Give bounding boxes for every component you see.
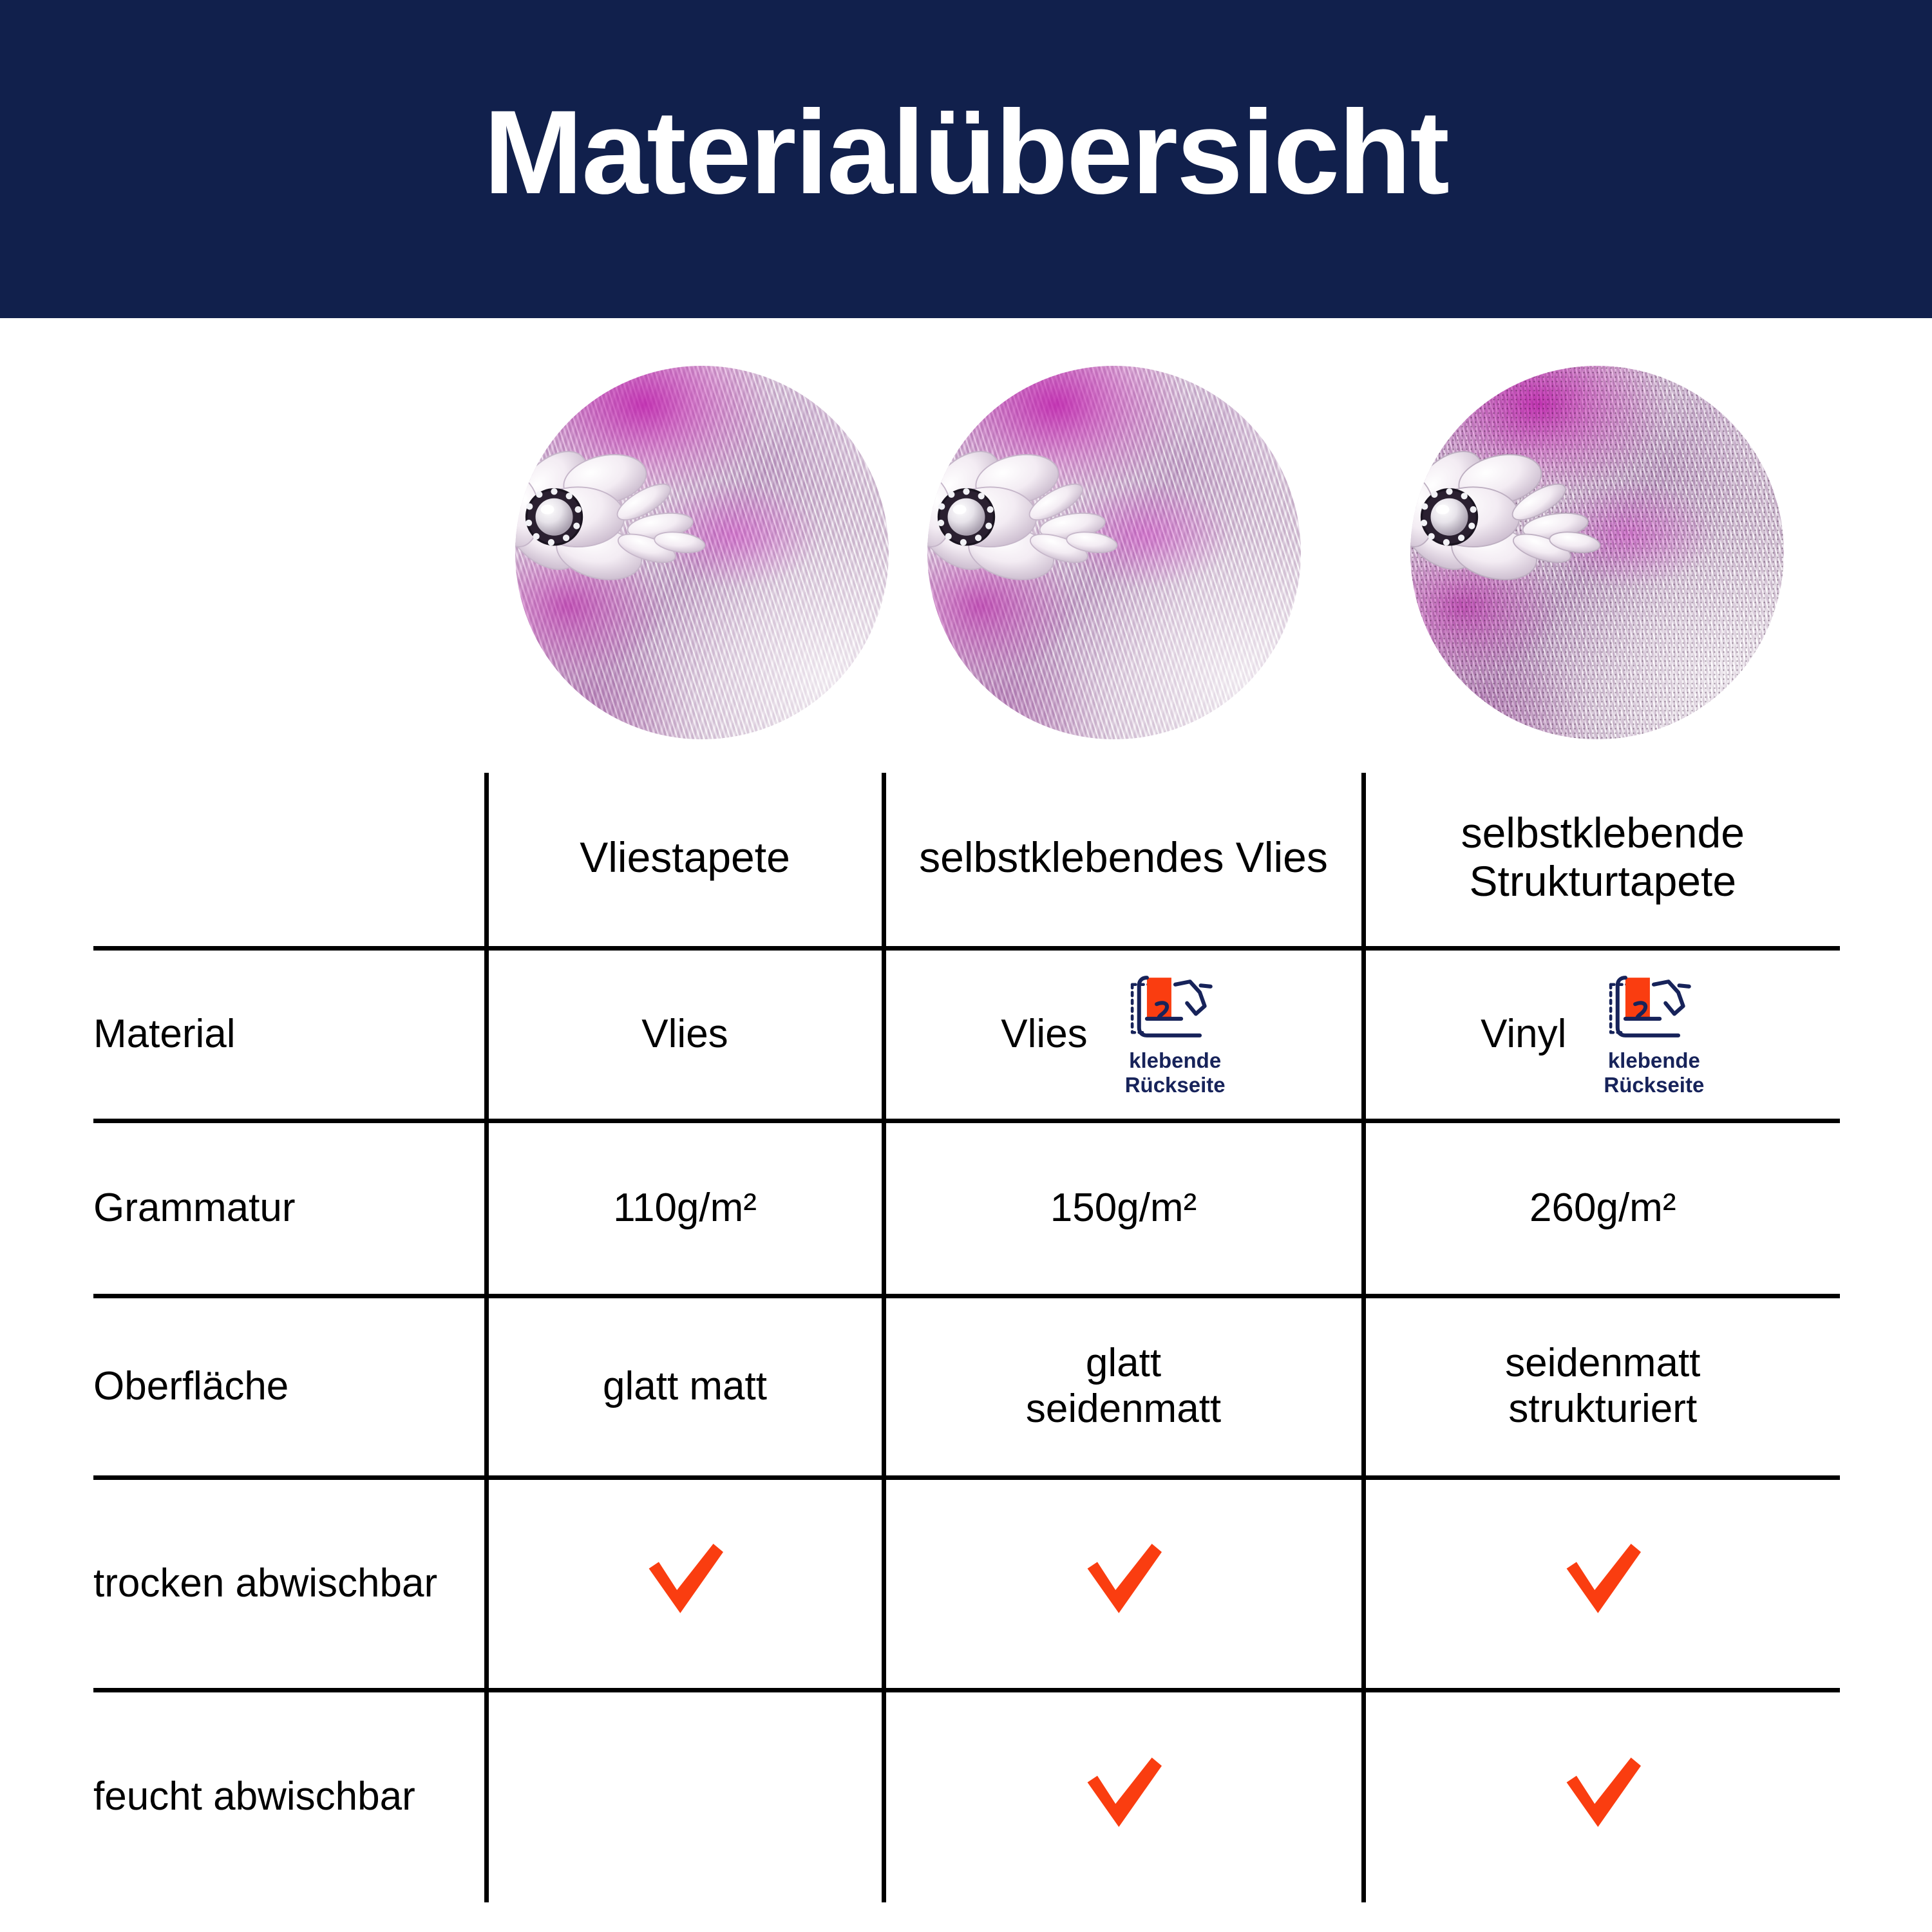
row-label-feucht-abwischbar: feucht abwischbar <box>93 1690 486 1902</box>
table-header-row: Vliestapete selbstklebendes Vlies selbst… <box>93 773 1840 948</box>
cell-trocken-selbstklebendes-vlies <box>884 1477 1363 1690</box>
adhesive-peel-icon <box>1126 971 1224 1046</box>
cell-trocken-selbstklebende-strukturtapete <box>1363 1477 1840 1690</box>
material-comparison-table: Vliestapete selbstklebendes Vlies selbst… <box>93 773 1840 1904</box>
cell-oberflaeche-selbstklebendes-vlies: glatt seidenmatt <box>884 1296 1363 1477</box>
column-header-selbstklebende-strukturtapete: selbstklebende Strukturtapete <box>1363 773 1840 948</box>
swatch-selbstklebendes-vlies[interactable] <box>927 366 1301 739</box>
fabric-flower-brooch-icon <box>515 448 724 620</box>
cell-grammatur-vliestapete: 110g/m² <box>486 1121 884 1296</box>
row-label-trocken-abwischbar: trocken abwischbar <box>93 1477 486 1690</box>
cell-oberflaeche-selbstklebende-strukturtapete: seidenmatt strukturiert <box>1363 1296 1840 1477</box>
page-header-band: Materialübersicht <box>0 0 1932 318</box>
adhesive-back-badge: klebende Rückseite <box>1583 971 1725 1097</box>
cell-oberflaeche-vliestapete: glatt matt <box>486 1296 884 1477</box>
cell-feucht-vliestapete <box>486 1690 884 1902</box>
swatch-row <box>0 361 1932 747</box>
check-icon <box>1561 1540 1645 1616</box>
column-header-selbstklebendes-vlies: selbstklebendes Vlies <box>884 773 1363 948</box>
badge-line-2: Rückseite <box>1604 1073 1704 1097</box>
row-label-grammatur: Grammatur <box>93 1121 486 1296</box>
cell-value: Vlies <box>641 1012 728 1056</box>
cell-material-selbstklebende-strukturtapete: Vinyl <box>1363 948 1840 1121</box>
swatch-vliestapete[interactable] <box>515 366 889 739</box>
check-icon <box>643 1540 727 1616</box>
table-row-material: Material Vlies Vlies <box>93 948 1840 1121</box>
cell-material-vliestapete: Vlies <box>486 948 884 1121</box>
fabric-flower-brooch-icon <box>1410 448 1620 620</box>
cell-feucht-selbstklebendes-vlies <box>884 1690 1363 1902</box>
swatch-selbstklebende-strukturtapete[interactable] <box>1410 366 1784 739</box>
cell-material-selbstklebendes-vlies: Vlies <box>884 948 1363 1121</box>
fabric-flower-brooch-icon <box>927 448 1137 620</box>
check-icon <box>1082 1754 1166 1830</box>
cell-feucht-selbstklebende-strukturtapete <box>1363 1690 1840 1902</box>
table-row-grammatur: Grammatur 110g/m² 150g/m² 260g/m² <box>93 1121 1840 1296</box>
column-header-vliestapete: Vliestapete <box>486 773 884 948</box>
cell-grammatur-selbstklebende-strukturtapete: 260g/m² <box>1363 1121 1840 1296</box>
badge-line-1: klebende <box>1129 1048 1221 1072</box>
cell-trocken-vliestapete <box>486 1477 884 1690</box>
badge-line-1: klebende <box>1608 1048 1700 1072</box>
check-icon <box>1561 1754 1645 1830</box>
table-corner-cell <box>93 773 486 948</box>
cell-value: Vinyl <box>1481 1012 1566 1057</box>
check-icon <box>1082 1540 1166 1616</box>
badge-line-2: Rückseite <box>1125 1073 1226 1097</box>
cell-grammatur-selbstklebendes-vlies: 150g/m² <box>884 1121 1363 1296</box>
table-row-feucht-abwischbar: feucht abwischbar <box>93 1690 1840 1902</box>
row-label-material: Material <box>93 948 486 1121</box>
adhesive-peel-icon <box>1605 971 1703 1046</box>
table-row-trocken-abwischbar: trocken abwischbar <box>93 1477 1840 1690</box>
table-row-oberflaeche: Oberfläche glatt matt glatt seidenmatt s… <box>93 1296 1840 1477</box>
cell-value: Vlies <box>1001 1012 1087 1057</box>
page-title: Materialübersicht <box>484 93 1448 213</box>
row-label-oberflaeche: Oberfläche <box>93 1296 486 1477</box>
adhesive-back-badge: klebende Rückseite <box>1104 971 1246 1097</box>
